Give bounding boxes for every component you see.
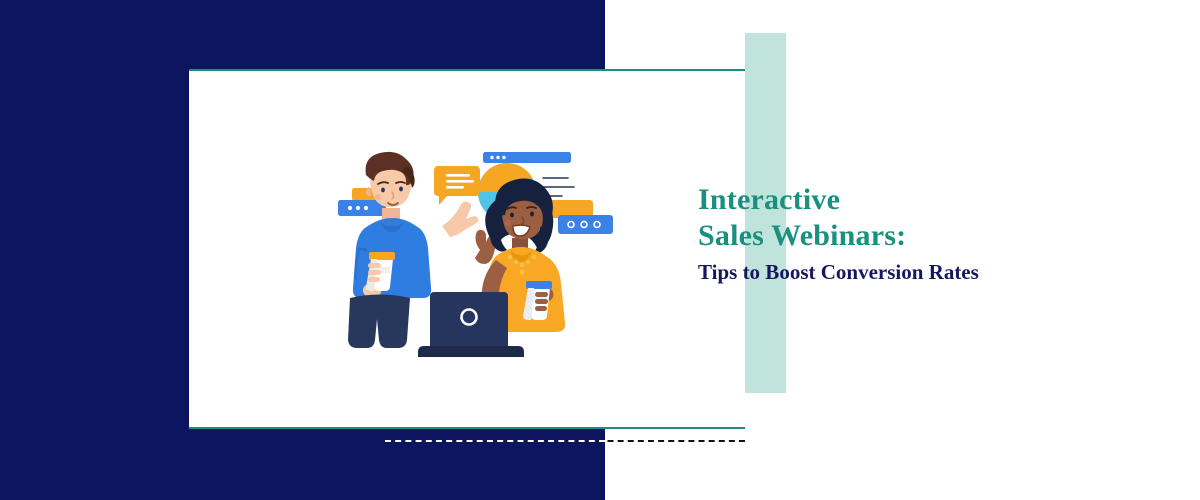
- headline-line-2: Sales Webinars:: [698, 218, 1168, 254]
- dashed-divider-on-navy: [385, 440, 605, 442]
- card-bottom-rule: [189, 427, 745, 429]
- card-top-rule: [189, 69, 745, 71]
- page-title: Interactive Sales Webinars:: [698, 182, 1168, 254]
- headline-line-1: Interactive: [698, 182, 1168, 218]
- chat-bubble-blue-right-dots: [558, 215, 613, 234]
- page-subtitle: Tips to Boost Conversion Rates: [698, 259, 1168, 285]
- window-bar-blue-dots-top: [483, 152, 571, 163]
- banner-stage: Interactive Sales Webinars: Tips to Boos…: [0, 0, 1200, 500]
- two-people-webinar-illustration: [330, 130, 620, 360]
- speech-bubble-orange-lines: [434, 166, 480, 205]
